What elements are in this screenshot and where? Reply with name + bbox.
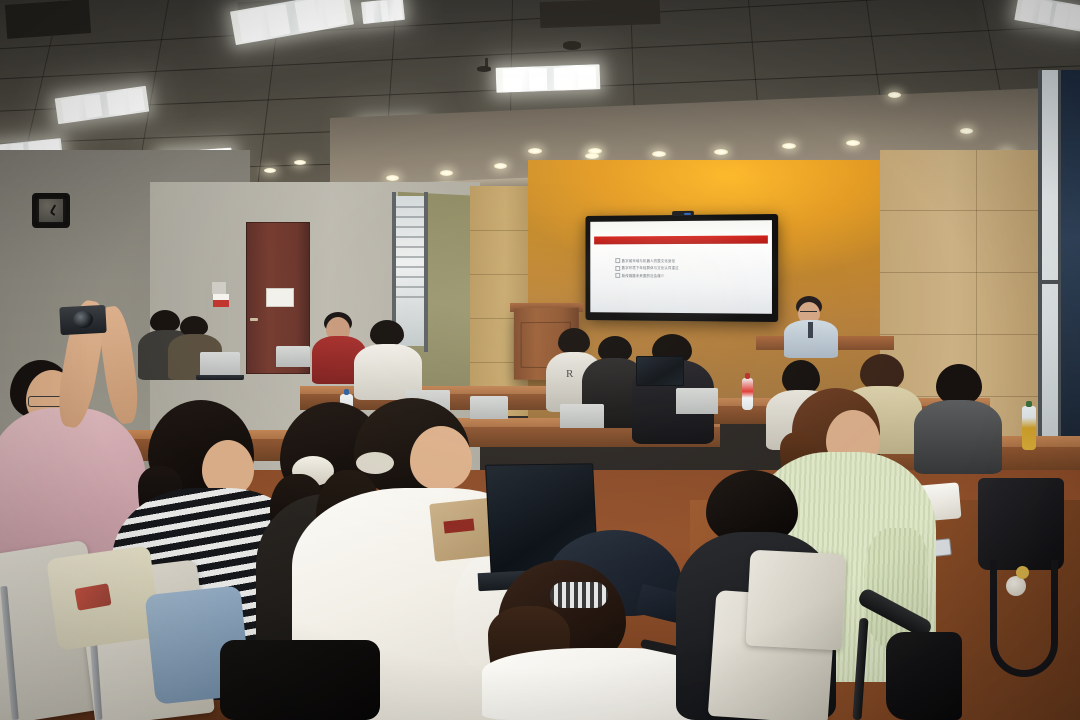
hair-scrunchie: [550, 582, 608, 608]
recessed-downlight: [888, 92, 901, 98]
slide-bullet: 数字环境下年轻群体与文化认同重过: [615, 265, 753, 273]
shoulder-bag[interactable]: [978, 478, 1064, 570]
presenter-glasses-icon: [800, 311, 817, 315]
recessed-downlight: [528, 148, 542, 154]
recessed-downlight: [440, 170, 453, 176]
photo-scene: 数字城市域与机器人的整文化途径 数字环境下年轻群体与文化认同重过 新传媒路未来图…: [0, 0, 1080, 720]
bag-charm-icon: [1016, 566, 1029, 579]
ceiling-speaker-icon: [477, 66, 491, 72]
stacking-chair[interactable]: [220, 640, 380, 720]
fluorescent-troffer: [496, 64, 601, 93]
hair-tie: [356, 452, 394, 474]
recessed-downlight: [588, 148, 602, 154]
recessed-downlight: [386, 175, 399, 181]
laptop[interactable]: [636, 356, 684, 386]
fluorescent-troffer: [361, 0, 405, 24]
bullet-marker-icon: [615, 273, 620, 278]
ceiling-access-panel: [5, 0, 91, 39]
bullet-marker-icon: [615, 266, 620, 271]
drink-bottle[interactable]: [742, 378, 753, 410]
slide-bullet: 数字城市域与机器人的整文化途径: [615, 258, 753, 266]
bag-charm-icon: [1006, 576, 1026, 596]
laptop-base: [196, 375, 244, 380]
door-handle[interactable]: [250, 318, 258, 321]
wall-clock: [32, 193, 70, 228]
window: [1038, 70, 1080, 490]
head: [410, 426, 472, 490]
laptop[interactable]: [276, 346, 310, 367]
door-sign: [266, 288, 294, 307]
recessed-downlight: [960, 128, 973, 134]
attendee: [920, 364, 996, 474]
ceiling-speaker-icon: [563, 41, 581, 50]
slide-accent-bar: [594, 235, 768, 244]
slide-bullet: 新传媒路未来图的社会媒介: [615, 273, 753, 281]
ceiling-access-panel: [540, 0, 661, 28]
fluorescent-troffer: [55, 86, 150, 125]
seated-person-legs: [886, 632, 962, 720]
recessed-downlight: [652, 151, 666, 157]
presenter: [782, 296, 844, 358]
shirt-graphic: R: [566, 368, 573, 380]
bullet-marker-icon: [615, 259, 620, 264]
display-status-led: [684, 213, 691, 215]
recessed-downlight: [846, 140, 860, 146]
attendee-white-shirt: [358, 320, 418, 400]
presenter-tie: [808, 322, 813, 338]
recessed-downlight: [585, 153, 599, 159]
recessed-downlight: [714, 149, 728, 155]
laptop[interactable]: [560, 404, 604, 428]
wall-sign: [213, 294, 229, 307]
laptop[interactable]: [200, 352, 240, 376]
drink-bottle[interactable]: [1022, 406, 1036, 450]
presentation-slide: 数字城市域与机器人的整文化途径 数字环境下年轻群体与文化认同重过 新传媒路未来图…: [590, 220, 772, 314]
stacking-chair[interactable]: [746, 550, 847, 651]
recessed-downlight: [294, 160, 306, 165]
compact-camera[interactable]: [59, 305, 106, 335]
window-frame: [424, 192, 428, 352]
camera-lens-icon: [72, 311, 93, 329]
recessed-downlight: [782, 143, 796, 149]
slide-bullet-list: 数字城市域与机器人的整文化途径 数字环境下年轻群体与文化认同重过 新传媒路未来图…: [615, 258, 753, 281]
recessed-downlight: [494, 163, 507, 169]
recessed-downlight: [264, 168, 276, 173]
wall-switch-plate[interactable]: [212, 282, 226, 294]
wall-mounted-display: 数字城市域与机器人的整文化途径 数字环境下年轻群体与文化认同重过 新传媒路未来图…: [586, 214, 779, 322]
laptop[interactable]: [676, 388, 718, 414]
